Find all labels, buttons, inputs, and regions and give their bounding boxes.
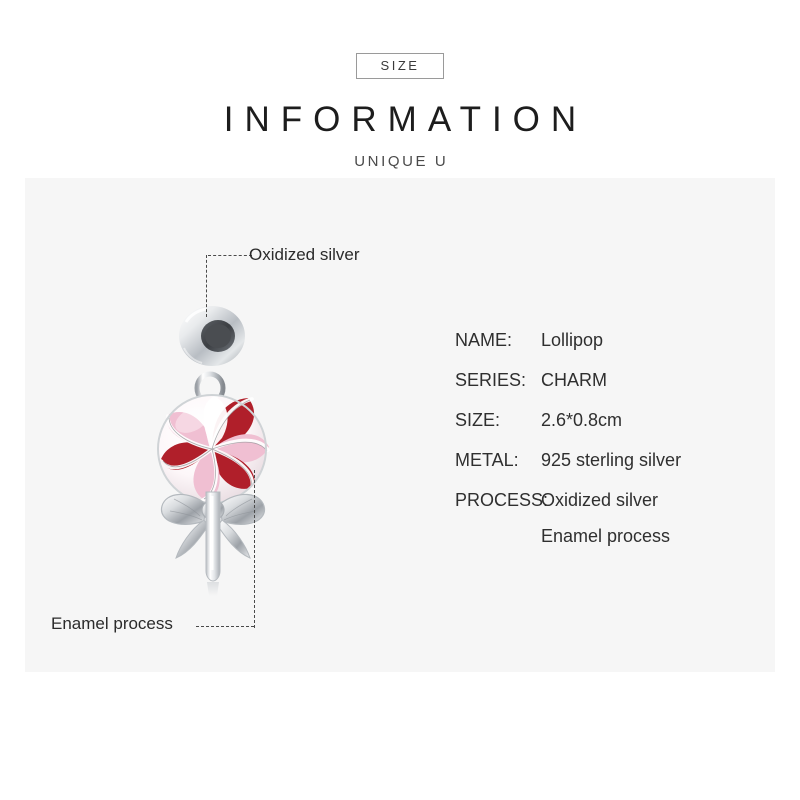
spec-row-metal: METAL: 925 sterling silver bbox=[455, 447, 765, 473]
leader-line-top bbox=[206, 255, 252, 317]
spec-row-name: NAME: Lollipop bbox=[455, 327, 765, 353]
spec-row-series: SERIES: CHARM bbox=[455, 367, 765, 393]
product-information-page: SIZE INFORMATION UNIQUE U bbox=[0, 0, 800, 800]
spec-row-size: SIZE: 2.6*0.8cm bbox=[455, 407, 765, 433]
leader-top-vertical bbox=[206, 255, 207, 317]
size-badge: SIZE bbox=[356, 53, 445, 79]
leader-bottom-horizontal bbox=[196, 626, 254, 627]
annotation-oxidized-silver: Oxidized silver bbox=[249, 245, 360, 265]
spec-value-size: 2.6*0.8cm bbox=[541, 407, 622, 433]
spec-row-process-continued: PROCESS: Enamel process bbox=[455, 523, 765, 549]
spec-label-size: SIZE: bbox=[455, 407, 541, 433]
spec-label-process: PROCESS: bbox=[455, 487, 541, 513]
spec-value-process: Oxidized silver bbox=[541, 487, 658, 513]
spec-value-name: Lollipop bbox=[541, 327, 603, 353]
spec-value-series: CHARM bbox=[541, 367, 607, 393]
header: SIZE INFORMATION UNIQUE U bbox=[0, 0, 800, 170]
spec-label-metal: METAL: bbox=[455, 447, 541, 473]
spec-label-series: SERIES: bbox=[455, 367, 541, 393]
annotation-enamel-process: Enamel process bbox=[51, 614, 173, 634]
leader-bottom-vertical bbox=[254, 470, 255, 628]
page-subtitle: UNIQUE U bbox=[0, 153, 800, 170]
leader-top-horizontal bbox=[208, 255, 252, 256]
spec-row-process: PROCESS: Oxidized silver bbox=[455, 487, 765, 513]
spec-value-metal: 925 sterling silver bbox=[541, 447, 681, 473]
spec-value-process-second: Enamel process bbox=[541, 523, 670, 549]
spec-list: NAME: Lollipop SERIES: CHARM SIZE: 2.6*0… bbox=[455, 327, 765, 563]
page-title: INFORMATION bbox=[0, 101, 800, 139]
spec-label-name: NAME: bbox=[455, 327, 541, 353]
leader-line-bottom bbox=[196, 470, 256, 628]
